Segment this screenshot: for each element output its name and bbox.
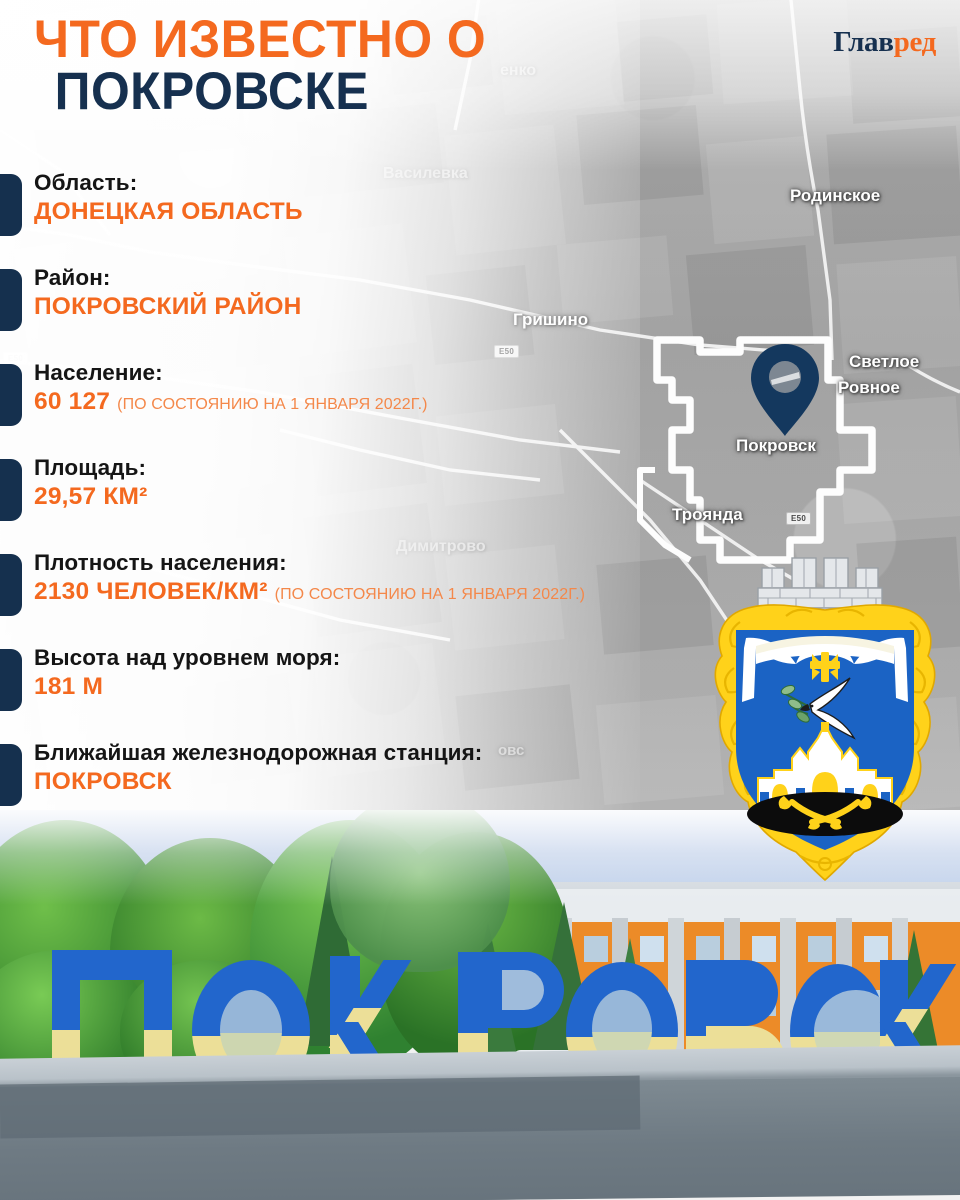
- fact-label: Область:: [34, 170, 760, 196]
- glavred-logo[interactable]: Главред: [833, 26, 936, 59]
- page-title: ЧТО ИЗВЕСТНО О ПОКРОВСКЕ: [34, 14, 617, 118]
- fact-value: ПОКРОВСКИЙ РАЙОН: [34, 292, 760, 321]
- fact-value: 2130 ЧЕЛОВЕК/КМ² (ПО СОСТОЯНИЮ НА 1 ЯНВА…: [34, 577, 760, 606]
- fact-value-text: ПОКРОВСК: [34, 768, 172, 795]
- map-label-svetloye: Светлое: [849, 352, 919, 372]
- pokrovsk-coat-of-arms: [700, 552, 950, 882]
- fact-value: 60 127 (ПО СОСТОЯНИЮ НА 1 ЯНВАРЯ 2022Г.): [34, 387, 760, 416]
- fact-value-text: 29,57 КМ²: [34, 483, 147, 510]
- road-shield: E50: [786, 512, 811, 525]
- fact-accent-bar: [0, 174, 22, 236]
- map-label-rodinskoye: Родинское: [790, 186, 880, 206]
- fact-note: (ПО СОСТОЯНИЮ НА 1 ЯНВАРЯ 2022Г.): [117, 396, 427, 413]
- fact-value: 181 М: [34, 672, 760, 701]
- fact-accent-bar: [0, 649, 22, 711]
- fact-accent-bar: [0, 269, 22, 331]
- title-line-2: ПОКРОВСКЕ: [55, 66, 617, 118]
- fact-accent-bar: [0, 459, 22, 521]
- fact-accent-bar: [0, 364, 22, 426]
- fact-value-text: 2130 ЧЕЛОВЕК/КМ²: [34, 578, 268, 605]
- fact-list: Область: ДОНЕЦКАЯ ОБЛАСТЬ Район: ПОКРОВС…: [0, 170, 760, 835]
- photo-building-window: [696, 936, 720, 962]
- fact-row-elevation: Высота над уровнем моря: 181 М: [0, 645, 760, 740]
- fact-value-text: 60 127: [34, 388, 110, 415]
- map-label-rovnoye: Ровное: [838, 378, 900, 398]
- fact-value-text: ДОНЕЦКАЯ ОБЛАСТЬ: [34, 198, 303, 225]
- fact-label: Высота над уровнем моря:: [34, 645, 760, 671]
- fact-label: Плотность населения:: [34, 550, 760, 576]
- photo-building-window: [752, 936, 776, 962]
- fact-label: Ближайшая железнодорожная станция:: [34, 740, 760, 766]
- fact-row-population: Население: 60 127 (ПО СОСТОЯНИЮ НА 1 ЯНВ…: [0, 360, 760, 455]
- fact-row-oblast: Область: ДОНЕЦКАЯ ОБЛАСТЬ: [0, 170, 760, 265]
- infographic-page: E50 E50 E50 Родинское Гришино Светлое Ро…: [0, 0, 960, 1200]
- fact-note: (ПО СОСТОЯНИЮ НА 1 ЯНВАРЯ 2022Г.): [275, 586, 585, 603]
- fact-accent-bar: [0, 554, 22, 616]
- fact-value-text: ПОКРОВСКИЙ РАЙОН: [34, 293, 302, 320]
- fact-row-rayon: Район: ПОКРОВСКИЙ РАЙОН: [0, 265, 760, 360]
- fact-label: Население:: [34, 360, 760, 386]
- fact-value: 29,57 КМ²: [34, 482, 760, 511]
- fact-label: Площадь:: [34, 455, 760, 481]
- fact-value-text: 181 М: [34, 673, 103, 700]
- cross-icon: [810, 652, 840, 682]
- fact-row-railway-station: Ближайшая железнодорожная станция: ПОКРО…: [0, 740, 760, 835]
- crossed-hammers-on-mound-icon: [747, 792, 903, 836]
- title-line-1: ЧТО ИЗВЕСТНО О: [34, 14, 617, 66]
- fact-value: ДОНЕЦКАЯ ОБЛАСТЬ: [34, 197, 760, 226]
- fact-row-density: Плотность населения: 2130 ЧЕЛОВЕК/КМ² (П…: [0, 550, 760, 645]
- fact-accent-bar: [0, 744, 22, 806]
- fact-row-area: Площадь: 29,57 КМ²: [0, 455, 760, 550]
- logo-part-glav: Глав: [833, 26, 893, 58]
- photo-building-window: [808, 936, 832, 962]
- fact-label: Район:: [34, 265, 760, 291]
- fact-value: ПОКРОВСК: [34, 767, 760, 796]
- photo-plinth-shadow: [0, 1076, 640, 1139]
- logo-part-red: ред: [894, 26, 936, 58]
